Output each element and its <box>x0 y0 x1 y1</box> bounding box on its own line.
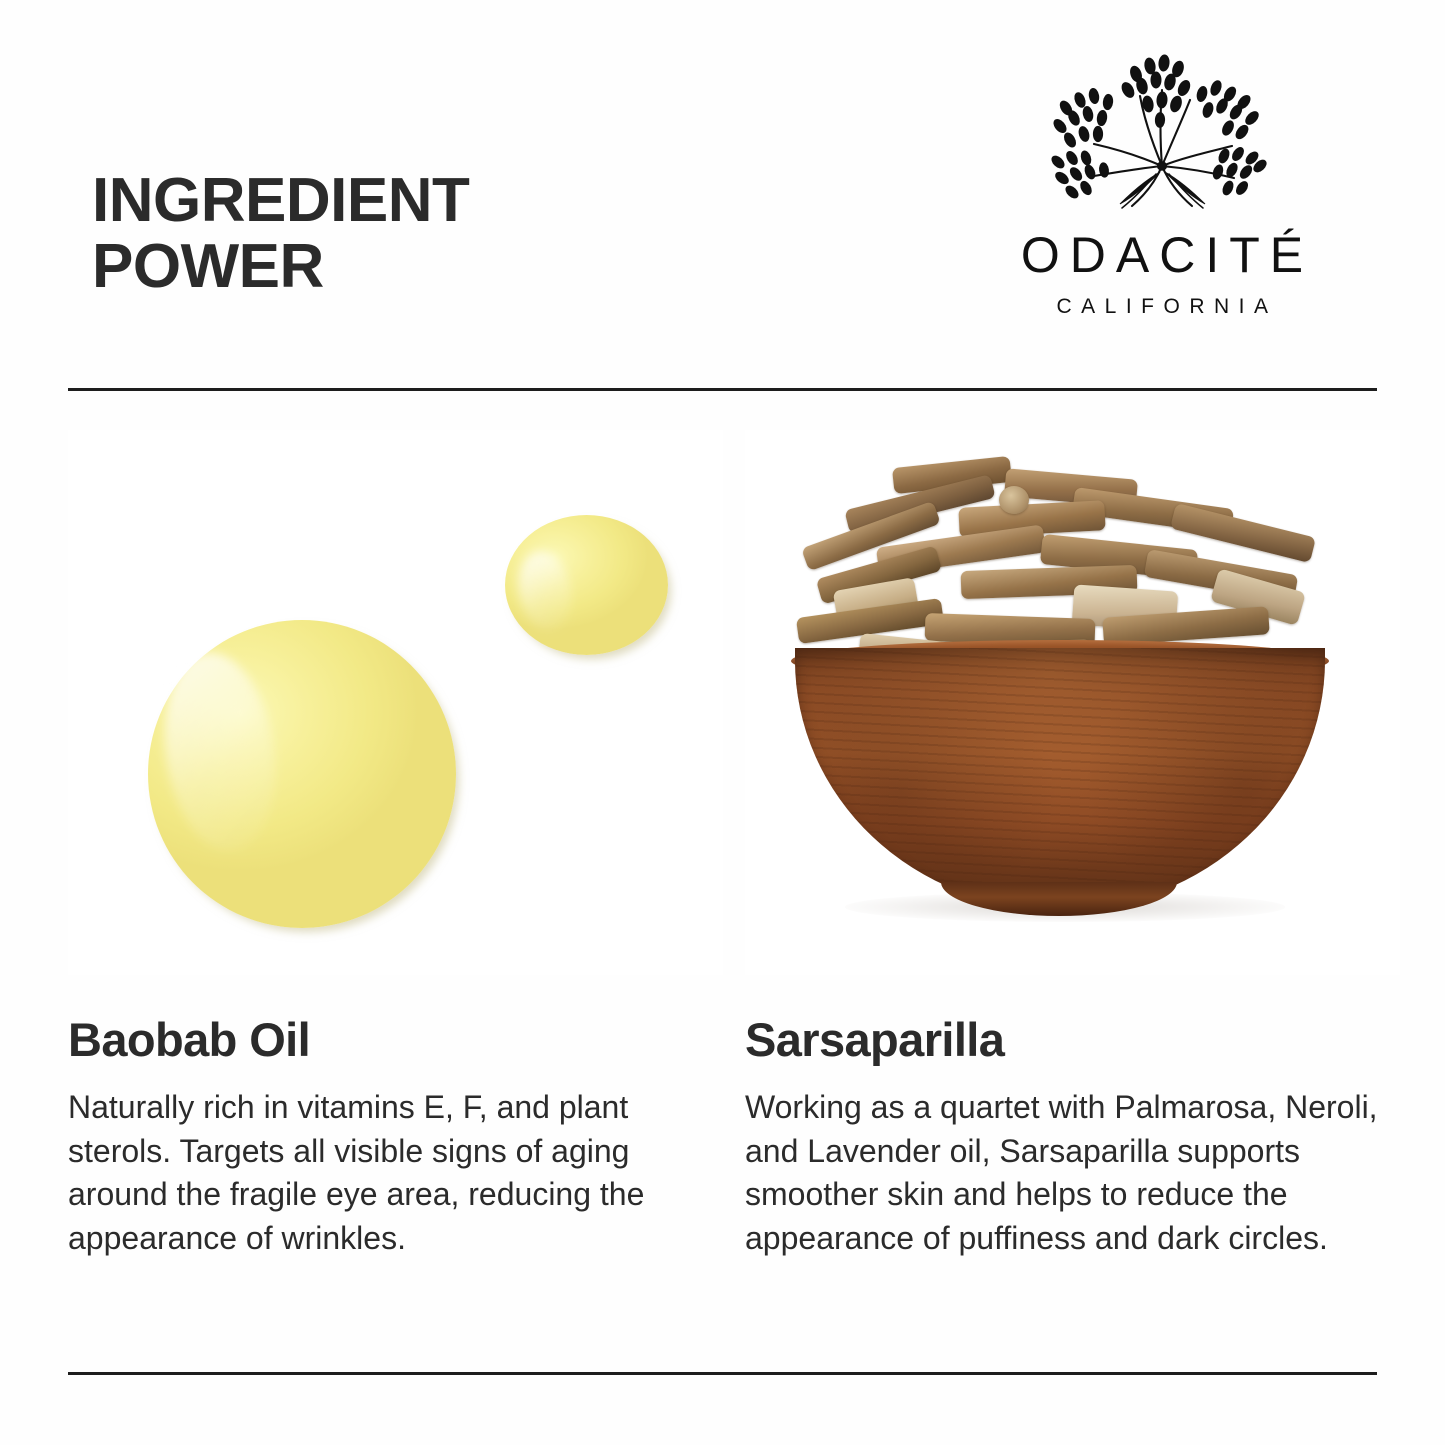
ingredient-columns: Baobab Oil Naturally rich in vitamins E,… <box>0 430 1445 1330</box>
oil-droplet-large <box>148 620 456 928</box>
oil-droplet-scene <box>68 430 723 975</box>
divider-top <box>68 388 1377 391</box>
ingredient-card-baobab-oil: Baobab Oil Naturally rich in vitamins E,… <box>68 430 723 1310</box>
wooden-bowl-scene <box>745 430 1400 975</box>
bowl-wood-grain <box>795 648 1325 910</box>
wooden-bowl <box>795 648 1325 910</box>
ingredient-title: Sarsaparilla <box>745 975 1400 1064</box>
ingredient-card-sarsaparilla: Sarsaparilla Working as a quartet with P… <box>745 430 1400 1310</box>
ingredient-power-card: INGREDIENT POWER <box>0 0 1445 1445</box>
brand-logo: ODACITÉ CALIFORNIA <box>952 46 1372 317</box>
umbel-botanical-icon <box>1032 46 1292 218</box>
baobab-oil-image <box>68 430 723 975</box>
ingredient-description: Working as a quartet with Palmarosa, Ner… <box>745 1064 1391 1260</box>
divider-bottom <box>68 1372 1377 1375</box>
header: INGREDIENT POWER <box>0 0 1445 389</box>
ingredient-title: Baobab Oil <box>68 975 723 1064</box>
sarsaparilla-image <box>745 430 1400 975</box>
oil-droplet-small <box>505 515 668 655</box>
brand-name: ODACITÉ <box>952 230 1372 280</box>
ingredient-description: Naturally rich in vitamins E, F, and pla… <box>68 1064 648 1260</box>
page-title: INGREDIENT POWER <box>92 168 712 302</box>
brand-tagline: CALIFORNIA <box>952 296 1372 317</box>
